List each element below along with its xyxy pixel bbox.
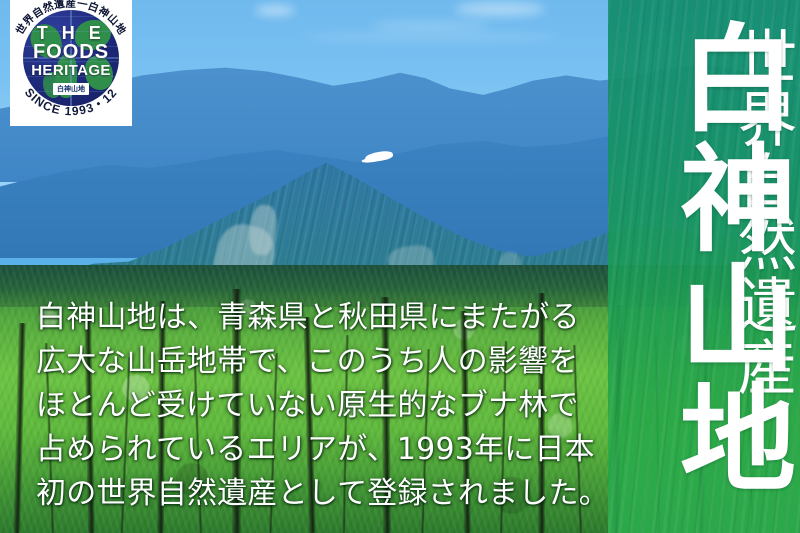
panel-title-vertical: 白神山地: [668, 18, 784, 498]
cloud-wisp: [455, 2, 545, 16]
logo-arc-bottom-text: SINCE 1993・12: [22, 85, 120, 118]
cloud-wisp: [255, 6, 295, 15]
poster-canvas: 世界自然遺産 白神山地 世界自然遺産一白神山地 T H E FOODS: [0, 0, 800, 533]
logo-arc-bottom-text-svg: SINCE 1993・12: [10, 70, 132, 126]
cloud-wisp: [300, 34, 560, 40]
description-line-5: 初の世界自然遺産として登録されました。: [36, 472, 586, 516]
description-line-1: 白神山地は、青森県と秋田県にまたがる: [36, 296, 586, 340]
cloud-wisp: [370, 22, 490, 29]
description-line-2: 広大な山岳地帯で、このうち人の影響を: [36, 340, 586, 384]
green-title-panel: 世界自然遺産 白神山地: [608, 0, 800, 533]
foods-heritage-logo[interactable]: 世界自然遺産一白神山地 T H E FOODS HERITAGE 白神山地 SI…: [10, 0, 132, 126]
description-text-block: 白神山地は、青森県と秋田県にまたがる 広大な山岳地帯で、このうち人の影響を ほと…: [36, 296, 586, 516]
logo-word-the: T H E: [10, 24, 132, 42]
description-line-3: ほとんど受けていない原生的なブナ林で: [36, 384, 586, 428]
logo-word-foods: FOODS: [10, 42, 132, 62]
logo-inner: 世界自然遺産一白神山地 T H E FOODS HERITAGE 白神山地 SI…: [10, 0, 132, 126]
description-line-4: 占められているエリアが、1993年に日本: [36, 428, 586, 472]
